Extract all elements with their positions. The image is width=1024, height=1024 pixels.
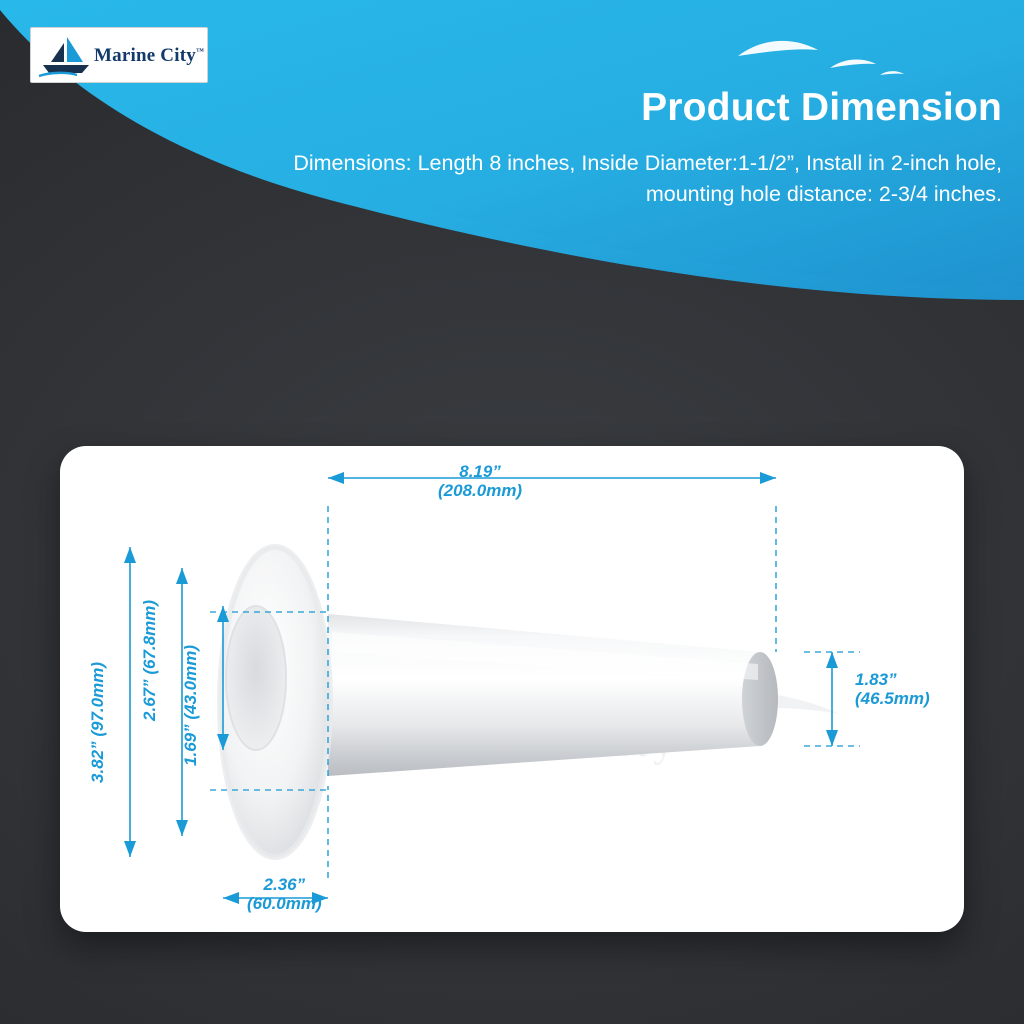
tube-diameter-mm: (46.5mm) xyxy=(855,689,930,708)
length-mm: (208.0mm) xyxy=(438,481,522,500)
page-title: Product Dimension xyxy=(641,86,1002,130)
flange-depth-inches: 2.36” xyxy=(247,875,322,894)
flange-inner-mm: (67.8mm) xyxy=(140,600,159,675)
dimension-label-tube-diameter: 1.83” (46.5mm) xyxy=(855,670,930,708)
sailboat-icon xyxy=(37,32,93,78)
bore-inches: 1.69” xyxy=(181,724,200,766)
flange-depth-mm: (60.0mm) xyxy=(247,894,322,913)
brand-name-text: Marine City xyxy=(94,45,196,66)
dimension-label-flange-depth: 2.36” (60.0mm) xyxy=(247,875,322,913)
flange-outer-mm: (97.0mm) xyxy=(88,662,107,737)
dimension-label-flange-inner: 2.67” (67.8mm) xyxy=(140,600,159,721)
product-dimension-page: Marine City™ Product Dimension Dimension… xyxy=(0,0,1024,1024)
flying-birds-icon xyxy=(734,34,914,82)
brand-logo: Marine City™ xyxy=(30,27,208,83)
dimension-label-flange-outer: 3.82” (97.0mm) xyxy=(88,662,107,783)
dimension-label-length: 8.19” (208.0mm) xyxy=(438,462,522,500)
brand-trademark: ™ xyxy=(196,46,204,55)
length-inches: 8.19” xyxy=(438,462,522,481)
brand-name: Marine City™ xyxy=(94,46,204,65)
page-subtitle: Dimensions: Length 8 inches, Inside Diam… xyxy=(212,148,1002,209)
tube-diameter-inches: 1.83” xyxy=(855,670,930,689)
header-banner: Marine City™ Product Dimension Dimension… xyxy=(0,0,1024,320)
flange-outer-inches: 3.82” xyxy=(88,741,107,783)
flange-inner-inches: 2.67” xyxy=(140,679,159,721)
dimension-label-bore: 1.69” (43.0mm) xyxy=(181,645,200,766)
bore-mm: (43.0mm) xyxy=(181,645,200,720)
